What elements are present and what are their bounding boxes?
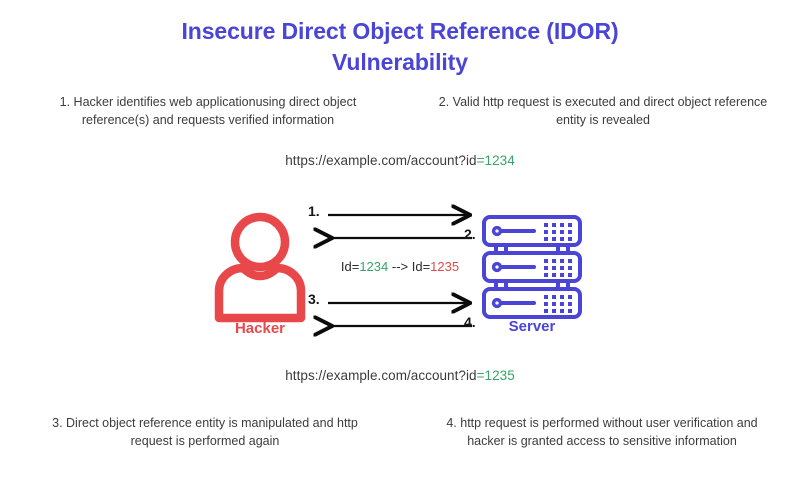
arrow-number-1: 1. — [308, 203, 320, 219]
url-manipulated-base: https://example.com/account?id — [285, 368, 476, 383]
page-title: Insecure Direct Object Reference (IDOR) … — [0, 16, 800, 78]
caption-step-2: 2. Valid http request is executed and di… — [438, 94, 768, 130]
id-transform-value-a: 1234 — [359, 259, 388, 274]
diagram-canvas: Insecure Direct Object Reference (IDOR) … — [0, 0, 800, 480]
url-original-base: https://example.com/account?id — [285, 153, 476, 168]
caption-step-4: 4. http request is performed without use… — [432, 415, 772, 451]
page-title-line2: Vulnerability — [0, 47, 800, 78]
url-manipulated: https://example.com/account?id=1235 — [0, 368, 800, 383]
id-transform-label: Id=1234 --> Id=1235 — [300, 259, 500, 274]
id-transform-value-b: 1235 — [430, 259, 459, 274]
caption-step-1: 1. Hacker identifies web applicationusin… — [48, 94, 368, 130]
id-transform-separator: --> — [388, 259, 411, 274]
id-transform-prefix-b: Id= — [412, 259, 430, 274]
arrow-number-4: 4. — [464, 314, 476, 330]
url-original-id: =1234 — [477, 153, 515, 168]
id-transform-prefix-a: Id= — [341, 259, 359, 274]
hacker-person-icon — [212, 208, 308, 324]
arrow-number-3: 3. — [308, 291, 320, 307]
url-manipulated-id: =1235 — [477, 368, 515, 383]
page-title-line1: Insecure Direct Object Reference (IDOR) — [181, 18, 618, 44]
arrow-number-2: 2. — [464, 226, 476, 242]
caption-step-3: 3. Direct object reference entity is man… — [40, 415, 370, 451]
url-original: https://example.com/account?id=1234 — [0, 153, 800, 168]
